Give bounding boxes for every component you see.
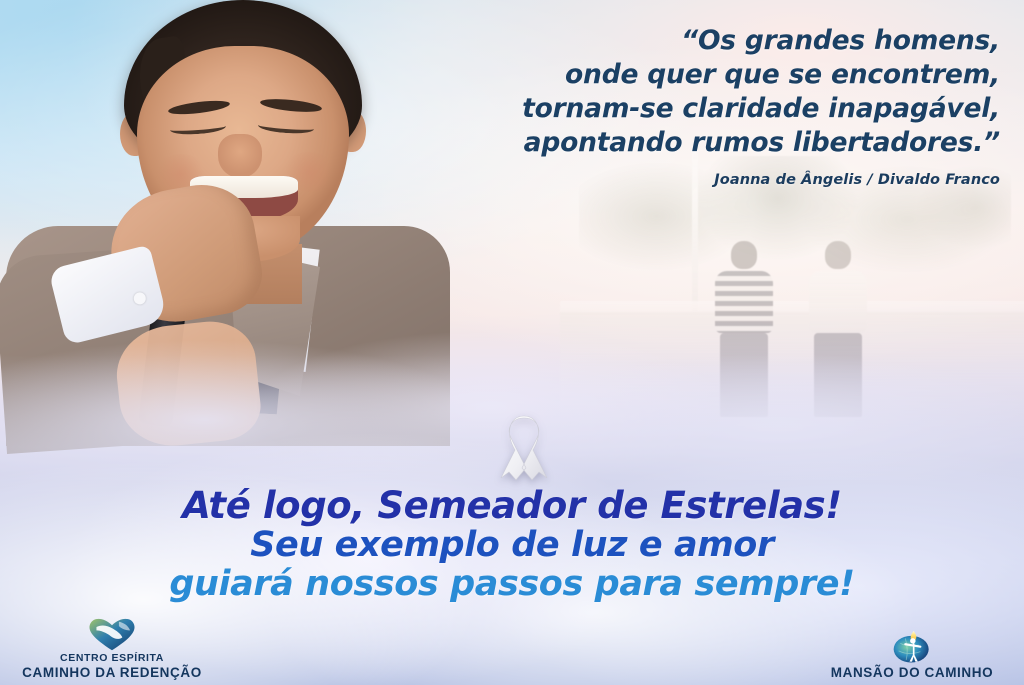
quote-author: Joanna de Ângelis / Divaldo Franco [380,172,1000,188]
quote-line-2: onde quer que se encontrem, [380,58,1000,92]
quote-line-4: apontando rumos libertadores.” [380,126,1000,160]
farewell-message: Até logo, Semeador de Estrelas! Seu exem… [0,486,1024,604]
logo-centro-espirita: CENTRO ESPÍRITA CAMINHO DA REDENÇÃO [6,612,218,681]
message-line-1: Até logo, Semeador de Estrelas! [0,486,1024,526]
logo-left-line-1: CENTRO ESPÍRITA [6,652,218,665]
message-line-3: guiará nossos passos para sempre! [0,565,1024,604]
message-line-2: Seu exemplo de luz e amor [0,526,1024,565]
portrait-nose [218,134,262,178]
quote-block: “Os grandes homens, onde quer que se enc… [380,24,1000,188]
heart-hands-icon [6,612,218,652]
logo-mansao-do-caminho: MANSÃO DO CAMINHO [806,625,1018,681]
white-ribbon-icon [493,412,555,484]
memorial-poster: “Os grandes homens, onde quer que se enc… [0,0,1024,685]
logo-right-line-1: MANSÃO DO CAMINHO [806,665,1018,681]
globe-figure-flame-icon [806,625,1018,665]
quote-line-3: tornam-se claridade inapagável, [380,92,1000,126]
quote-line-1: “Os grandes homens, [380,24,1000,58]
logo-left-line-2: CAMINHO DA REDENÇÃO [6,665,218,681]
